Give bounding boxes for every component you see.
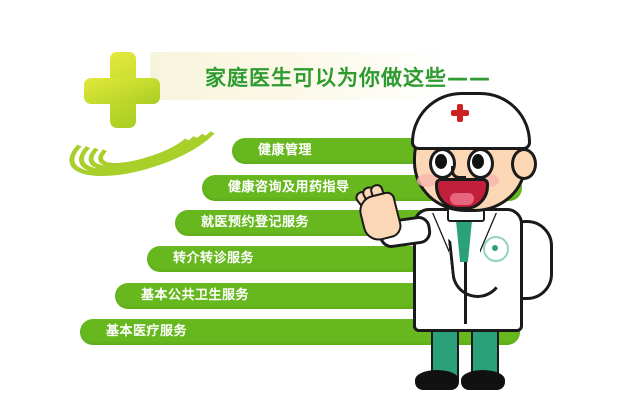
service-label-4: 转介转诊服务 — [173, 246, 254, 272]
service-label-3: 就医预约登记服务 — [201, 210, 309, 236]
doctor-left-shoe — [415, 370, 459, 390]
cross-horizontal-bar — [84, 78, 160, 104]
doctor-left-pupil — [435, 154, 447, 169]
service-label-5: 基本公共卫生服务 — [141, 283, 249, 309]
doctor-badge-icon — [483, 236, 509, 262]
service-label-2: 健康咨询及用药指导 — [228, 175, 350, 201]
cap-cross-horizontal — [451, 110, 469, 116]
medical-cross-icon — [84, 52, 160, 128]
poster-canvas: 家庭医生可以为你做这些—— 健康管理 健康咨询及用药指导 就医预约登记服务 转介… — [0, 0, 640, 408]
doctor-tongue — [450, 193, 474, 205]
doctor-nurse-cap — [411, 92, 531, 150]
cap-red-cross-icon — [451, 104, 469, 122]
cartoon-doctor — [355, 86, 585, 366]
doctor-right-shoe — [461, 370, 505, 390]
doctor-right-pupil — [472, 154, 484, 169]
service-label-1: 健康管理 — [258, 138, 312, 164]
service-label-6: 基本医疗服务 — [106, 319, 187, 345]
doctor-ear — [511, 148, 537, 180]
